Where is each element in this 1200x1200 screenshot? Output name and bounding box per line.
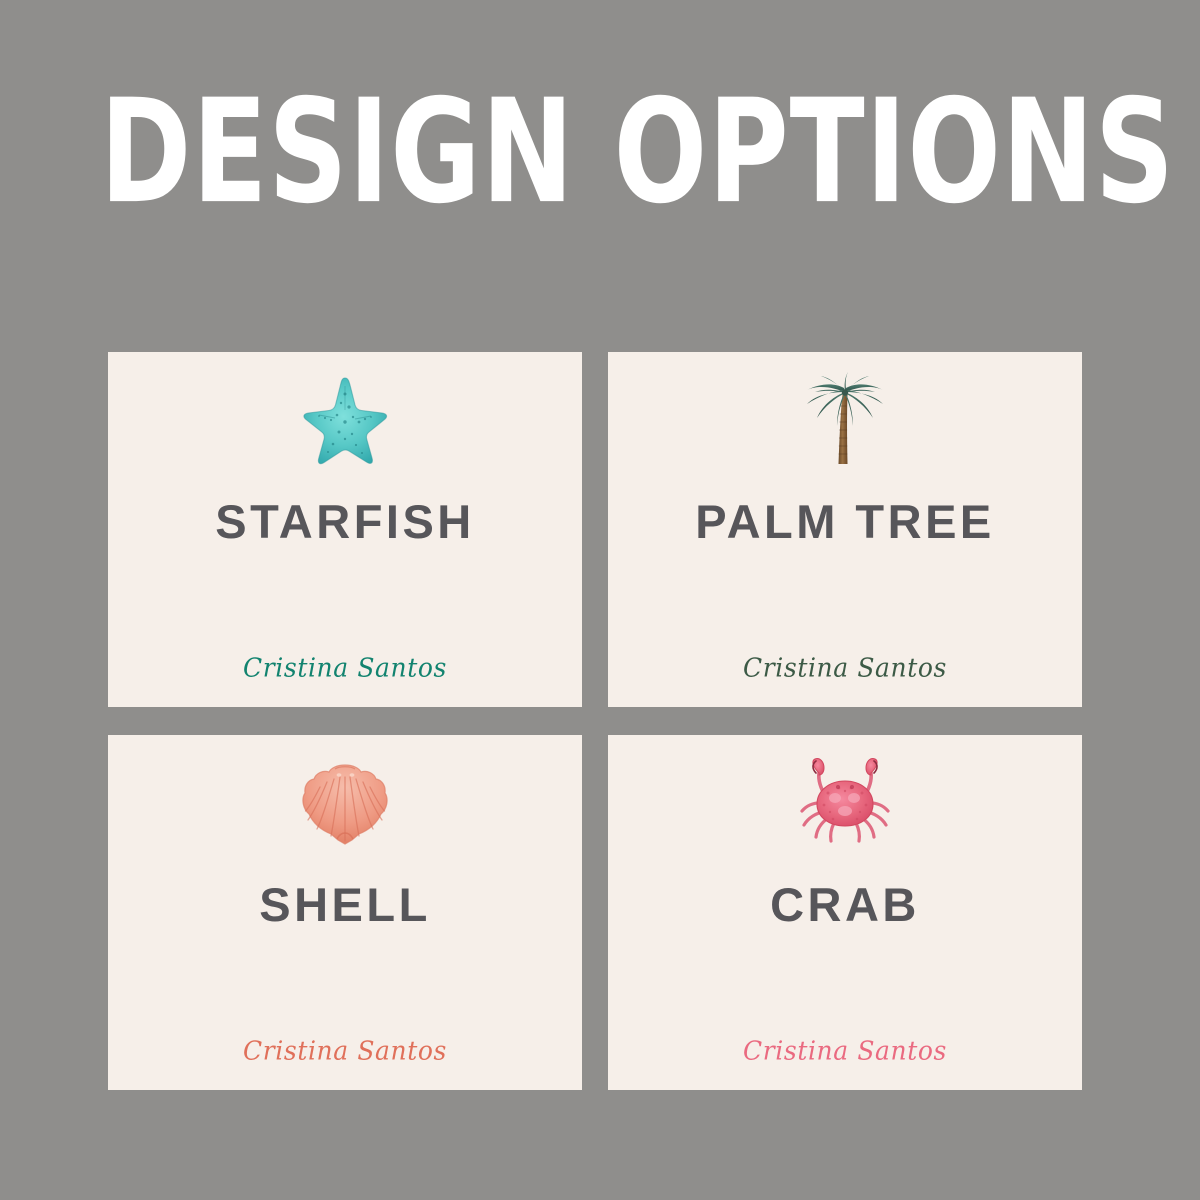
page-title: DESIGN OPTIONS [100,69,702,237]
crab-art [608,749,1082,857]
shell-art [108,749,582,857]
card-signature-starfish: Cristina Santos [108,652,582,684]
starfish-icon [295,370,395,470]
palm-tree-art [608,366,1082,474]
card-label-shell: SHELL [108,877,582,933]
palm-tree-icon [799,368,891,472]
card-signature-crab: Cristina Santos [608,1035,1082,1067]
design-card-crab[interactable]: CRAB Cristina Santos [608,735,1082,1090]
design-card-shell[interactable]: SHELL Cristina Santos [108,735,582,1090]
crab-icon [795,757,895,849]
card-label-palm-tree: PALM TREE [608,494,1082,550]
design-card-starfish[interactable]: STARFISH Cristina Santos [108,352,582,707]
card-signature-shell: Cristina Santos [108,1035,582,1067]
card-label-crab: CRAB [608,877,1082,933]
card-signature-palm-tree: Cristina Santos [608,652,1082,684]
design-options-grid: STARFISH Cristina Santos [108,352,1082,1090]
shell-icon [297,757,393,849]
starfish-art [108,366,582,474]
design-card-palm-tree[interactable]: PALM TREE Cristina Santos [608,352,1082,707]
card-label-starfish: STARFISH [108,494,582,550]
